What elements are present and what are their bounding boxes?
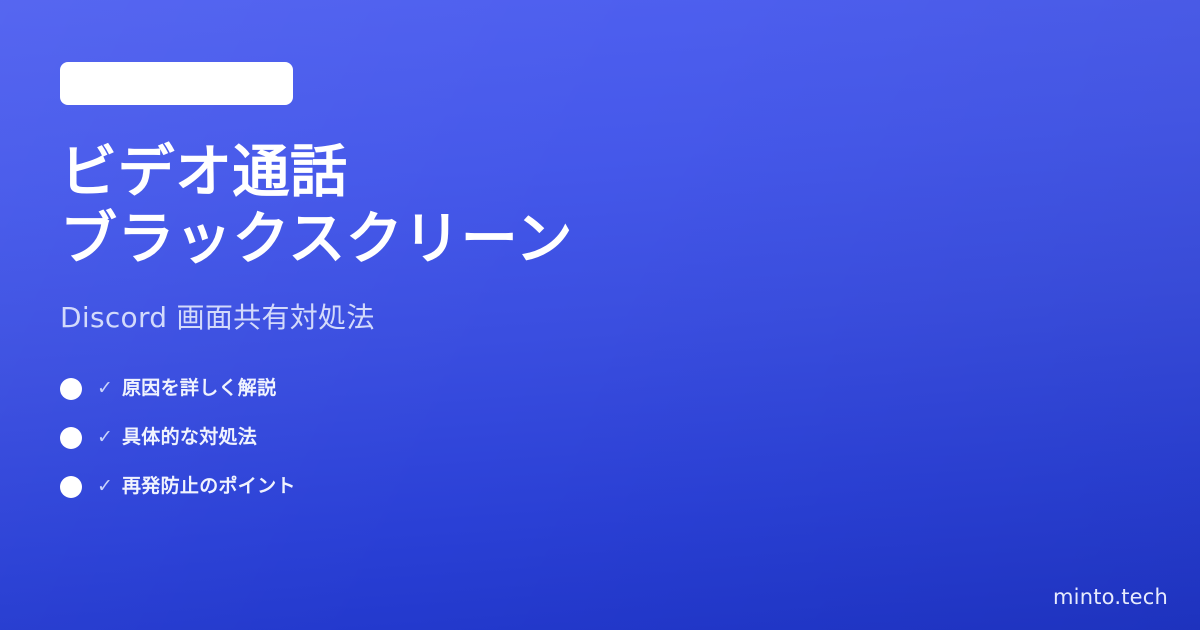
page-title-line-1: ビデオ通話	[60, 139, 1200, 206]
check-icon: ✓	[94, 428, 116, 447]
list-item-label: 原因を詳しく解説	[122, 379, 276, 398]
site-wordmark: minto.tech	[1053, 587, 1168, 608]
list-item: ✓ 再発防止のポイント	[60, 472, 1200, 502]
bullet-dot-icon	[60, 378, 82, 400]
list-item: ✓ 具体的な対処法	[60, 423, 1200, 453]
feature-list: ✓ 原因を詳しく解説 ✓ 具体的な対処法 ✓ 再発防止のポイント	[60, 374, 1200, 502]
check-icon: ✓	[94, 477, 116, 496]
category-badge	[60, 62, 293, 105]
og-card: ビデオ通話 ブラックスクリーン Discord 画面共有対処法 ✓ 原因を詳しく…	[0, 0, 1200, 630]
page-title: ビデオ通話 ブラックスクリーン	[60, 139, 1200, 274]
bullet-dot-icon	[60, 427, 82, 449]
page-title-line-2: ブラックスクリーン	[60, 206, 1200, 273]
list-item-label: 再発防止のポイント	[122, 477, 296, 496]
page-subtitle: Discord 画面共有対処法	[60, 300, 1200, 336]
check-icon: ✓	[94, 379, 116, 398]
bullet-dot-icon	[60, 476, 82, 498]
card-content: ビデオ通話 ブラックスクリーン Discord 画面共有対処法 ✓ 原因を詳しく…	[0, 0, 1200, 502]
list-item-label: 具体的な対処法	[122, 428, 257, 447]
list-item: ✓ 原因を詳しく解説	[60, 374, 1200, 404]
